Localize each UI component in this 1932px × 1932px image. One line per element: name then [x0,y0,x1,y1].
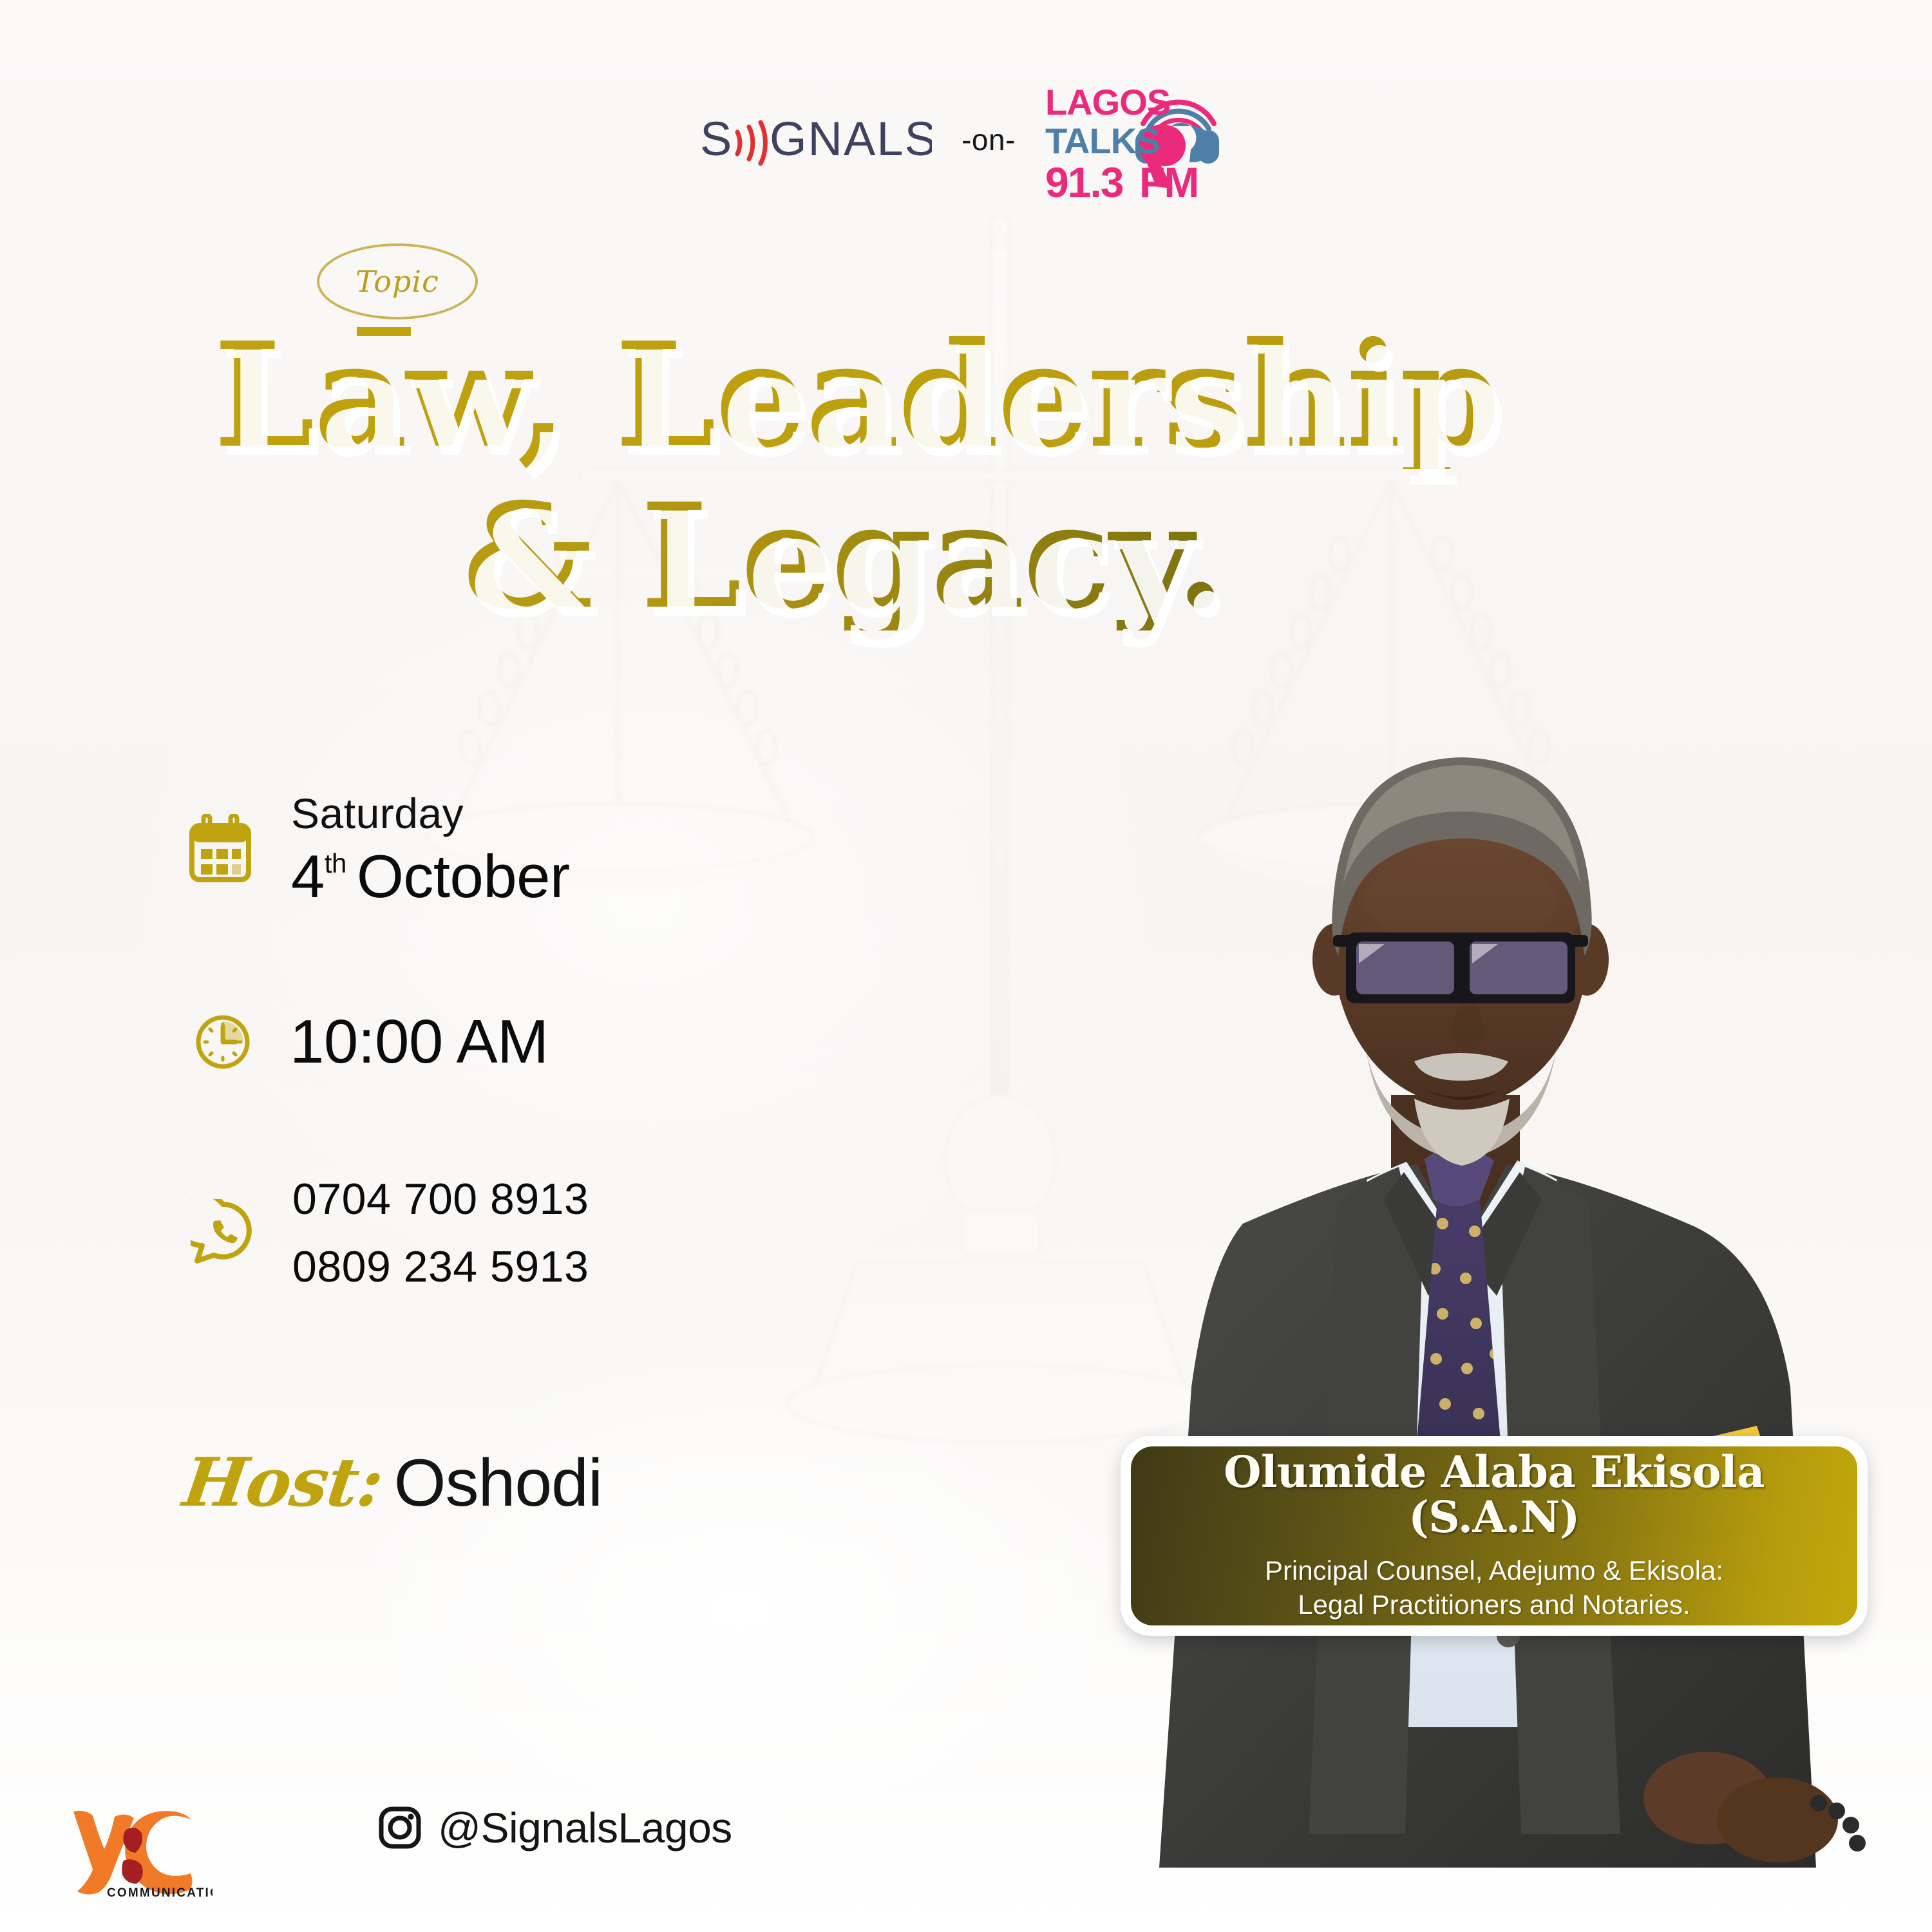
instagram-handle-prefix: @ [438,1804,481,1851]
yc-communications-logo: COMMUNICATIONS [64,1806,213,1909]
guest-name: Olumide Alaba Ekisola (S.A.N) [1150,1450,1838,1540]
svg-text:GNALS: GNALS [770,114,932,166]
svg-text:LAGOS: LAGOS [1045,82,1170,122]
svg-text:91.3: 91.3 [1045,158,1123,206]
promo-poster: S GNALS -on- [0,0,1932,1932]
date-text: Saturday 4thOctober [291,792,570,907]
topic-badge-label: Topic [317,243,478,319]
header-logos: S GNALS -on- [0,77,1932,206]
phone-number-2: 0809 234 5913 [292,1233,589,1301]
topic-badge: Topic [317,243,478,319]
guest-role-line-2: Legal Practitioners and Notaries. [1265,1587,1723,1622]
phone-number-1: 0704 700 8913 [292,1166,589,1233]
clock-icon [193,1012,252,1072]
calendar-icon [187,814,254,885]
host-block: Host: Oshodi [184,1443,602,1522]
guest-nameplate-inner: Olumide Alaba Ekisola (S.A.N) Principal … [1131,1446,1857,1625]
date-day-suffix: th [325,850,346,877]
whatsapp-icon [191,1199,255,1267]
date-day-number: 4 [291,846,325,907]
svg-text:TALKS: TALKS [1045,120,1160,161]
page-title: Law, Leadership & Legacy. [0,322,1687,630]
host-label: Host: [178,1443,388,1522]
guest-role-line-1: Principal Counsel, Adejumo & Ekisola: [1265,1553,1723,1588]
title-line-1: Law, Leadership [0,322,1687,469]
date-month: October [357,846,570,907]
instagram-handle[interactable]: @SignalsLagos [438,1803,732,1852]
guest-nameplate: Olumide Alaba Ekisola (S.A.N) Principal … [1121,1436,1868,1636]
instagram-handle-name: SignalsLagos [481,1804,732,1851]
agency-tagline: COMMUNICATIONS [107,1886,213,1900]
lagos-talks-logo: LAGOS TALKS 91.3 FM [1045,77,1232,206]
date-row: Saturday 4thOctober [187,792,570,907]
title-line-2: & Legacy. [0,483,1687,630]
contact-numbers: 0704 700 8913 0809 234 5913 [292,1166,589,1302]
date-weekday: Saturday [291,792,570,835]
time-text: 10:00 AM [290,1011,549,1073]
signals-logo: S GNALS [700,114,932,169]
svg-text:FM: FM [1139,158,1198,206]
instagram-handle-block[interactable]: @SignalsLagos [377,1803,732,1852]
date-full: 4thOctober [291,846,570,907]
connector-label: -on- [961,122,1016,161]
guest-role: Principal Counsel, Adejumo & Ekisola: Le… [1265,1553,1723,1623]
speaker-portrait [1030,644,1932,1932]
instagram-icon[interactable] [377,1805,422,1850]
svg-text:S: S [700,114,733,166]
time-row: 10:00 AM [193,1011,549,1073]
host-name: Oshodi [394,1445,603,1522]
contact-row: 0704 700 8913 0809 234 5913 [191,1166,589,1302]
time-value: 10:00 AM [290,1011,549,1073]
